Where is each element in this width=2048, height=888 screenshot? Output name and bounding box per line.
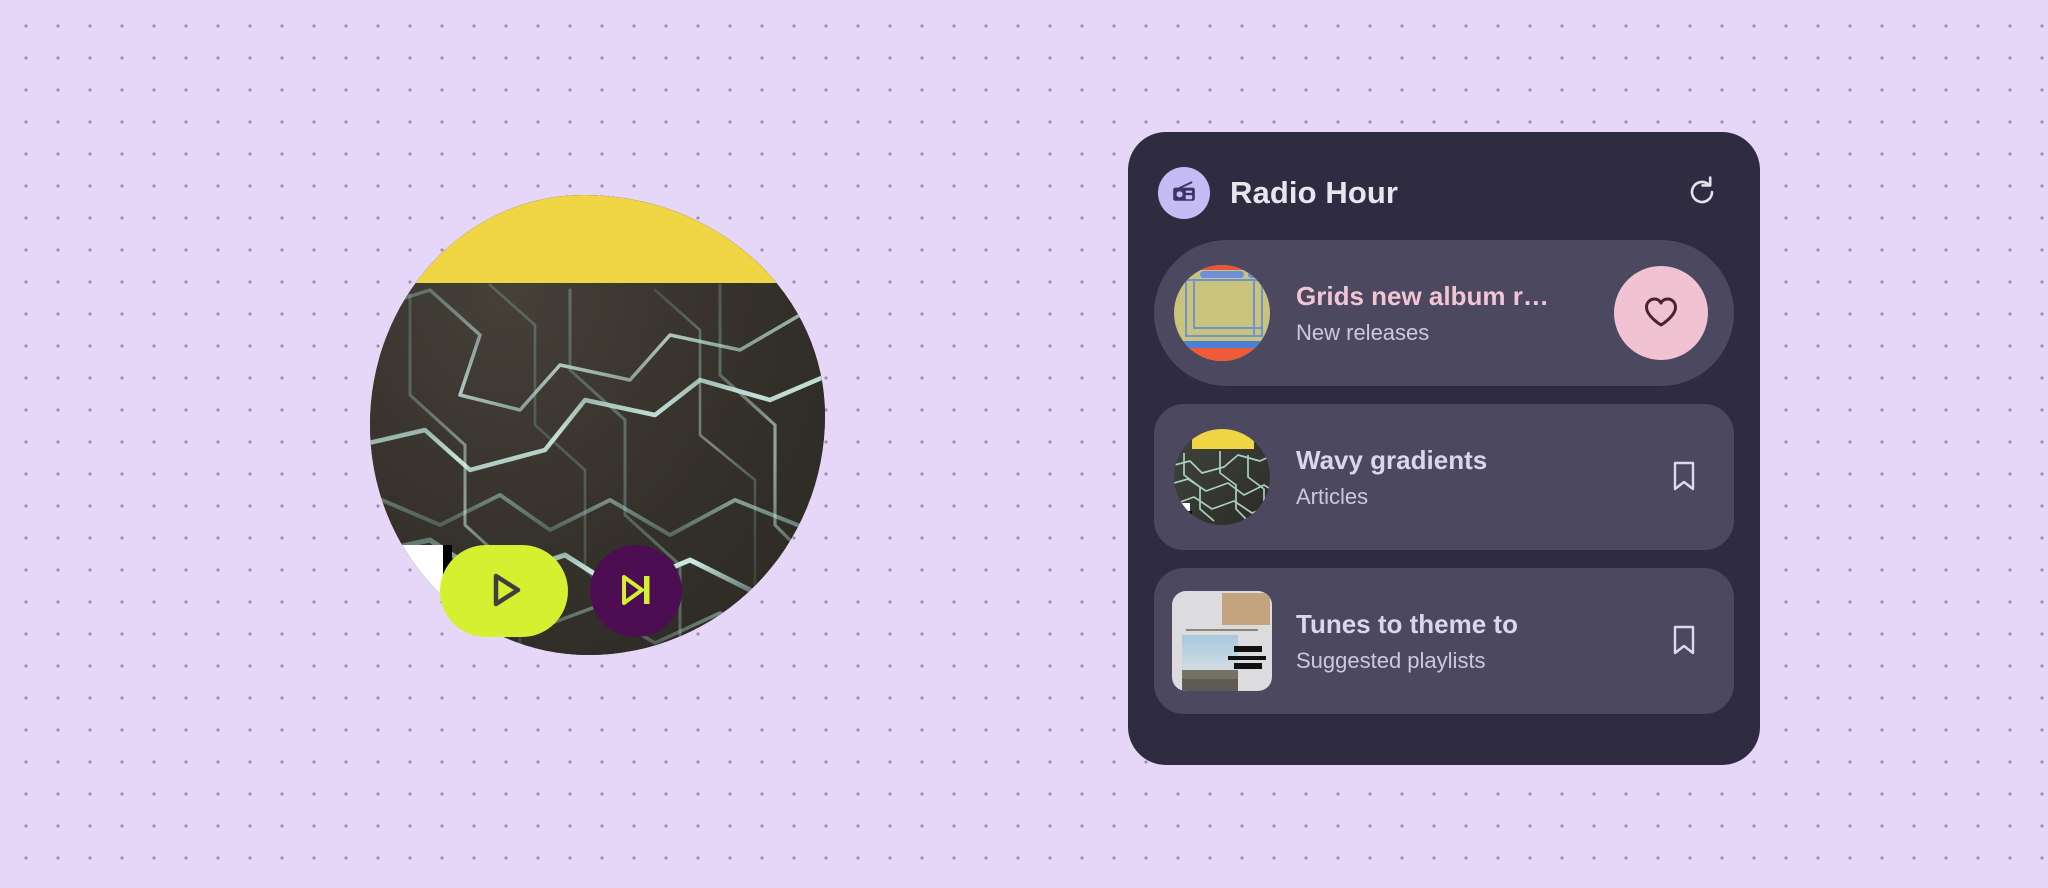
list-item[interactable]: Grids new album r… New releases bbox=[1154, 240, 1734, 386]
magazine-thumbnail bbox=[1172, 591, 1272, 691]
wavy-artwork-thumbnail bbox=[1172, 427, 1272, 527]
list-item-title: Tunes to theme to bbox=[1296, 608, 1660, 641]
bookmark-icon bbox=[1667, 623, 1701, 660]
feed-list: Grids new album r… New releases bbox=[1154, 240, 1734, 714]
list-item-text: Grids new album r… New releases bbox=[1296, 280, 1614, 347]
list-item-subtitle: New releases bbox=[1296, 320, 1614, 346]
play-button[interactable] bbox=[440, 545, 568, 637]
list-item[interactable]: Wavy gradients Articles bbox=[1154, 404, 1734, 550]
bookmark-button[interactable] bbox=[1660, 617, 1708, 665]
artwork-yellow-band bbox=[370, 195, 825, 283]
radio-icon bbox=[1158, 167, 1210, 219]
radio-hour-card: Radio Hour bbox=[1128, 132, 1760, 765]
play-icon bbox=[481, 567, 527, 616]
list-item-text: Tunes to theme to Suggested playlists bbox=[1296, 608, 1660, 675]
list-item-subtitle: Suggested playlists bbox=[1296, 648, 1660, 674]
bookmark-button[interactable] bbox=[1660, 453, 1708, 501]
card-header: Radio Hour bbox=[1154, 154, 1734, 232]
list-item-subtitle: Articles bbox=[1296, 484, 1660, 510]
list-item-text: Wavy gradients Articles bbox=[1296, 444, 1660, 511]
skip-next-icon bbox=[615, 569, 657, 614]
like-button[interactable] bbox=[1614, 266, 1708, 360]
bookmark-icon bbox=[1667, 459, 1701, 496]
list-item[interactable]: Tunes to theme to Suggested playlists bbox=[1154, 568, 1734, 714]
next-button[interactable] bbox=[590, 545, 682, 637]
player-stage bbox=[370, 195, 825, 655]
grid-artwork-thumbnail bbox=[1172, 263, 1272, 363]
page-title: Radio Hour bbox=[1230, 175, 1398, 211]
list-item-title: Wavy gradients bbox=[1296, 444, 1660, 477]
refresh-icon bbox=[1685, 175, 1719, 212]
heart-icon bbox=[1641, 292, 1681, 335]
refresh-button[interactable] bbox=[1680, 171, 1724, 215]
list-item-title: Grids new album r… bbox=[1296, 280, 1614, 313]
